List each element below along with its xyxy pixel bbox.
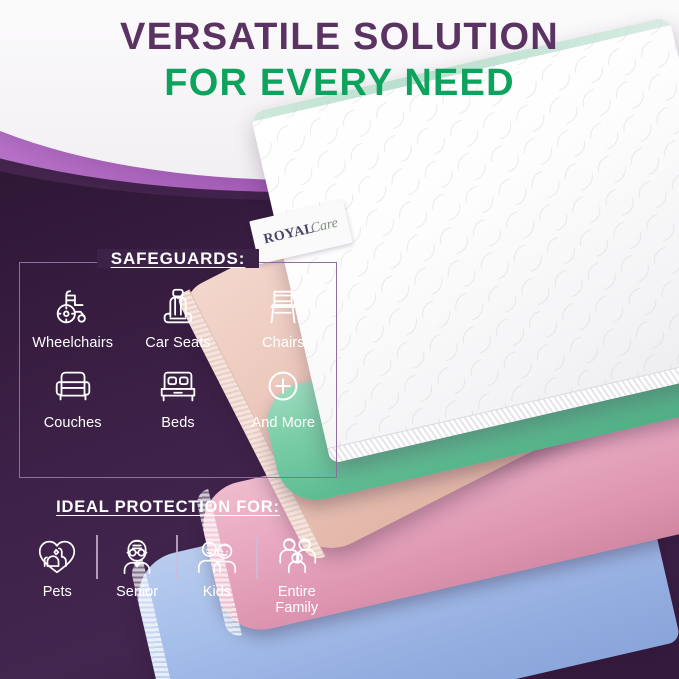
safeguard-item-wheelchairs: Wheelchairs	[20, 283, 125, 351]
headline-line-1: VERSATILE SOLUTION	[0, 18, 679, 58]
plus-circle-icon	[260, 363, 306, 411]
headline-line-2: FOR EVERY NEED	[0, 62, 679, 106]
safeguard-item-chairs: Chairs	[231, 283, 336, 351]
bed-icon	[155, 363, 201, 411]
senior-icon	[114, 533, 160, 579]
safeguards-title-wrap: SAFEGUARDS:	[20, 249, 336, 269]
ideal-item-label: Senior	[116, 584, 158, 600]
wheelchair-icon	[50, 283, 96, 331]
safeguard-label: Wheelchairs	[32, 335, 113, 351]
pets-icon	[34, 533, 80, 579]
car-seat-icon	[155, 283, 201, 331]
safeguard-label: Car Seats	[145, 335, 210, 351]
ideal-item-label: Entire Family	[260, 584, 334, 616]
safeguard-item-beds: Beds	[125, 363, 230, 431]
divider	[96, 535, 97, 579]
divider	[256, 535, 257, 579]
divider	[176, 535, 177, 579]
safeguard-item-and-more: And More	[231, 363, 336, 431]
ideal-item-pets: Pets	[18, 533, 96, 600]
ideal-protection-section: IDEAL PROTECTION FOR: Pets	[18, 498, 348, 616]
family-icon	[274, 533, 320, 579]
brand-name-primary: ROYAL	[262, 221, 316, 248]
safeguard-label: Beds	[161, 415, 194, 431]
safeguards-panel: SAFEGUARDS: Wheelchairs	[19, 262, 337, 478]
safeguard-label: Couches	[44, 415, 102, 431]
kids-icon	[194, 533, 240, 579]
safeguard-item-car-seats: Car Seats	[125, 283, 230, 351]
safeguard-label: And More	[251, 415, 315, 431]
safeguard-label: Chairs	[262, 335, 305, 351]
product-marketing-image: VERSATILE SOLUTION FOR EVERY NEED ROYAL …	[0, 0, 679, 679]
headline-block: VERSATILE SOLUTION FOR EVERY NEED	[0, 18, 679, 106]
ideal-item-senior: Senior	[98, 533, 176, 600]
safeguards-grid: Wheelchairs Car Seats	[20, 283, 336, 431]
couch-icon	[50, 363, 96, 411]
ideal-item-label: Kids	[203, 584, 231, 600]
ideal-item-entire-family: Entire Family	[258, 533, 336, 616]
chair-icon	[260, 283, 306, 331]
safeguards-title: SAFEGUARDS:	[97, 249, 260, 268]
ideal-protection-title: IDEAL PROTECTION FOR:	[18, 498, 318, 517]
ideal-item-label: Pets	[43, 584, 72, 600]
ideal-protection-row: Pets Senior	[18, 533, 336, 616]
safeguard-item-couches: Couches	[20, 363, 125, 431]
brand-name-script: Care	[309, 216, 339, 238]
ideal-item-kids: Kids	[178, 533, 256, 600]
